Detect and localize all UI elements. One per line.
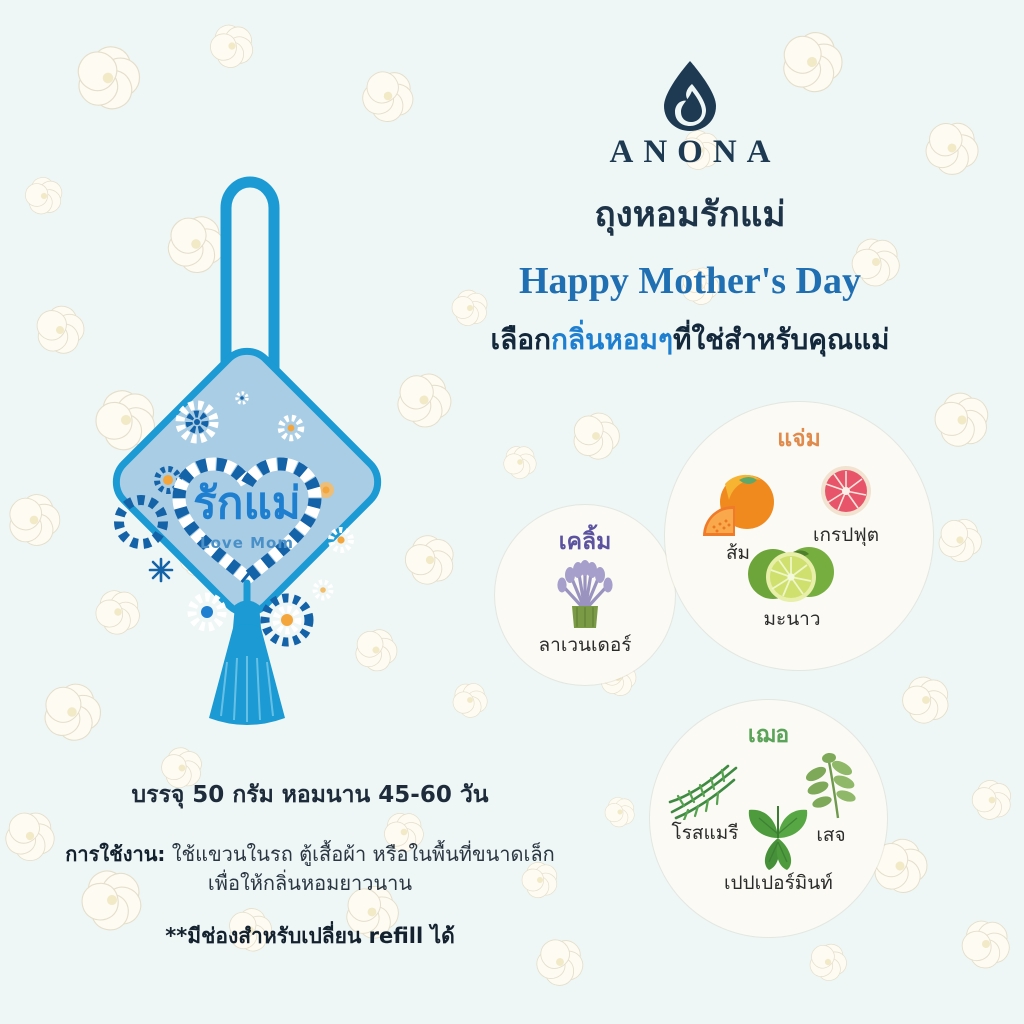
subtitle-suffix: ที่ใช่สำหรับคุณแม่ [673, 323, 889, 356]
scent-item-sage: เสจ [798, 748, 864, 845]
page-title: ถุงหอมรักแม่ [390, 195, 990, 235]
scent-item-label-peppermint: เปปเปอร์มินท์ [724, 874, 833, 893]
subtitle-highlight: กลิ่นหอมๆ [551, 323, 673, 356]
scent-item-label-grapefruit: เกรปฟุต [813, 526, 879, 545]
water-drop-flame-icon [661, 58, 719, 134]
brand-header: ANONA ถุงหอมรักแม่ Happy Mother's Day เล… [390, 58, 990, 357]
product-details: บรรจุ 50 กรัม หอมนาน 45-60 วัน การใช้งาน… [30, 782, 590, 949]
subtitle-prefix: เลือก [491, 323, 552, 356]
scent-circle-herb[interactable]: เฌอ โรสแมรี [650, 700, 887, 937]
scent-item-grapefruit: เกรปฟุต [813, 464, 879, 545]
usage-instructions: การใช้งาน: ใช้แขวนในรถ ตู้เสื้อผ้า หรือใ… [30, 840, 590, 898]
lavender-icon [546, 558, 624, 630]
scent-circle-calm[interactable]: เคลิ้ม ลาเวนเดอร์ [495, 505, 675, 685]
scent-title-bright: แจ่ม [777, 428, 820, 451]
english-title: Happy Mother's Day [390, 261, 990, 303]
scent-item-lime: มะนาว [743, 544, 841, 629]
scent-item-label-sage: เสจ [816, 826, 845, 845]
sachet-tassel [209, 583, 285, 725]
sachet-heart-english-text: Love Mom [200, 534, 294, 552]
hanging-sachet-graphic: รักแม่ Love Mom [95, 150, 395, 770]
spec-line: บรรจุ 50 กรัม หอมนาน 45-60 วัน [30, 782, 590, 810]
scent-title-herb: เฌอ [748, 724, 789, 747]
usage-text-2: เพื่อให้กลิ่นหอมยาวนาน [208, 871, 412, 895]
usage-label: การใช้งาน: [65, 842, 165, 866]
lime-icon [743, 544, 841, 606]
refill-note: **มีช่องสำหรับเปลี่ยน refill ได้ [30, 924, 590, 949]
brand-wordmark: ANONA [390, 136, 990, 169]
scent-item-label-lime: มะนาว [763, 610, 820, 629]
orange-fruit-icon [695, 470, 781, 542]
scent-title-calm: เคลิ้ม [559, 531, 612, 554]
sage-icon [798, 748, 864, 822]
scent-circle-bright[interactable]: แจ่ม ส้ม [665, 402, 933, 670]
poster-canvas: ANONA ถุงหอมรักแม่ Happy Mother's Day เล… [0, 0, 1024, 1024]
usage-text: ใช้แขวนในรถ ตู้เสื้อผ้า หรือในพื้นที่ขนา… [172, 842, 555, 866]
scent-item-label-lavender: ลาเวนเดอร์ [539, 636, 632, 655]
grapefruit-icon [813, 464, 879, 522]
sachet-heart-thai-text: รักแม่ [193, 478, 301, 529]
subtitle: เลือกกลิ่นหอมๆที่ใช่สำหรับคุณแม่ [390, 323, 990, 357]
